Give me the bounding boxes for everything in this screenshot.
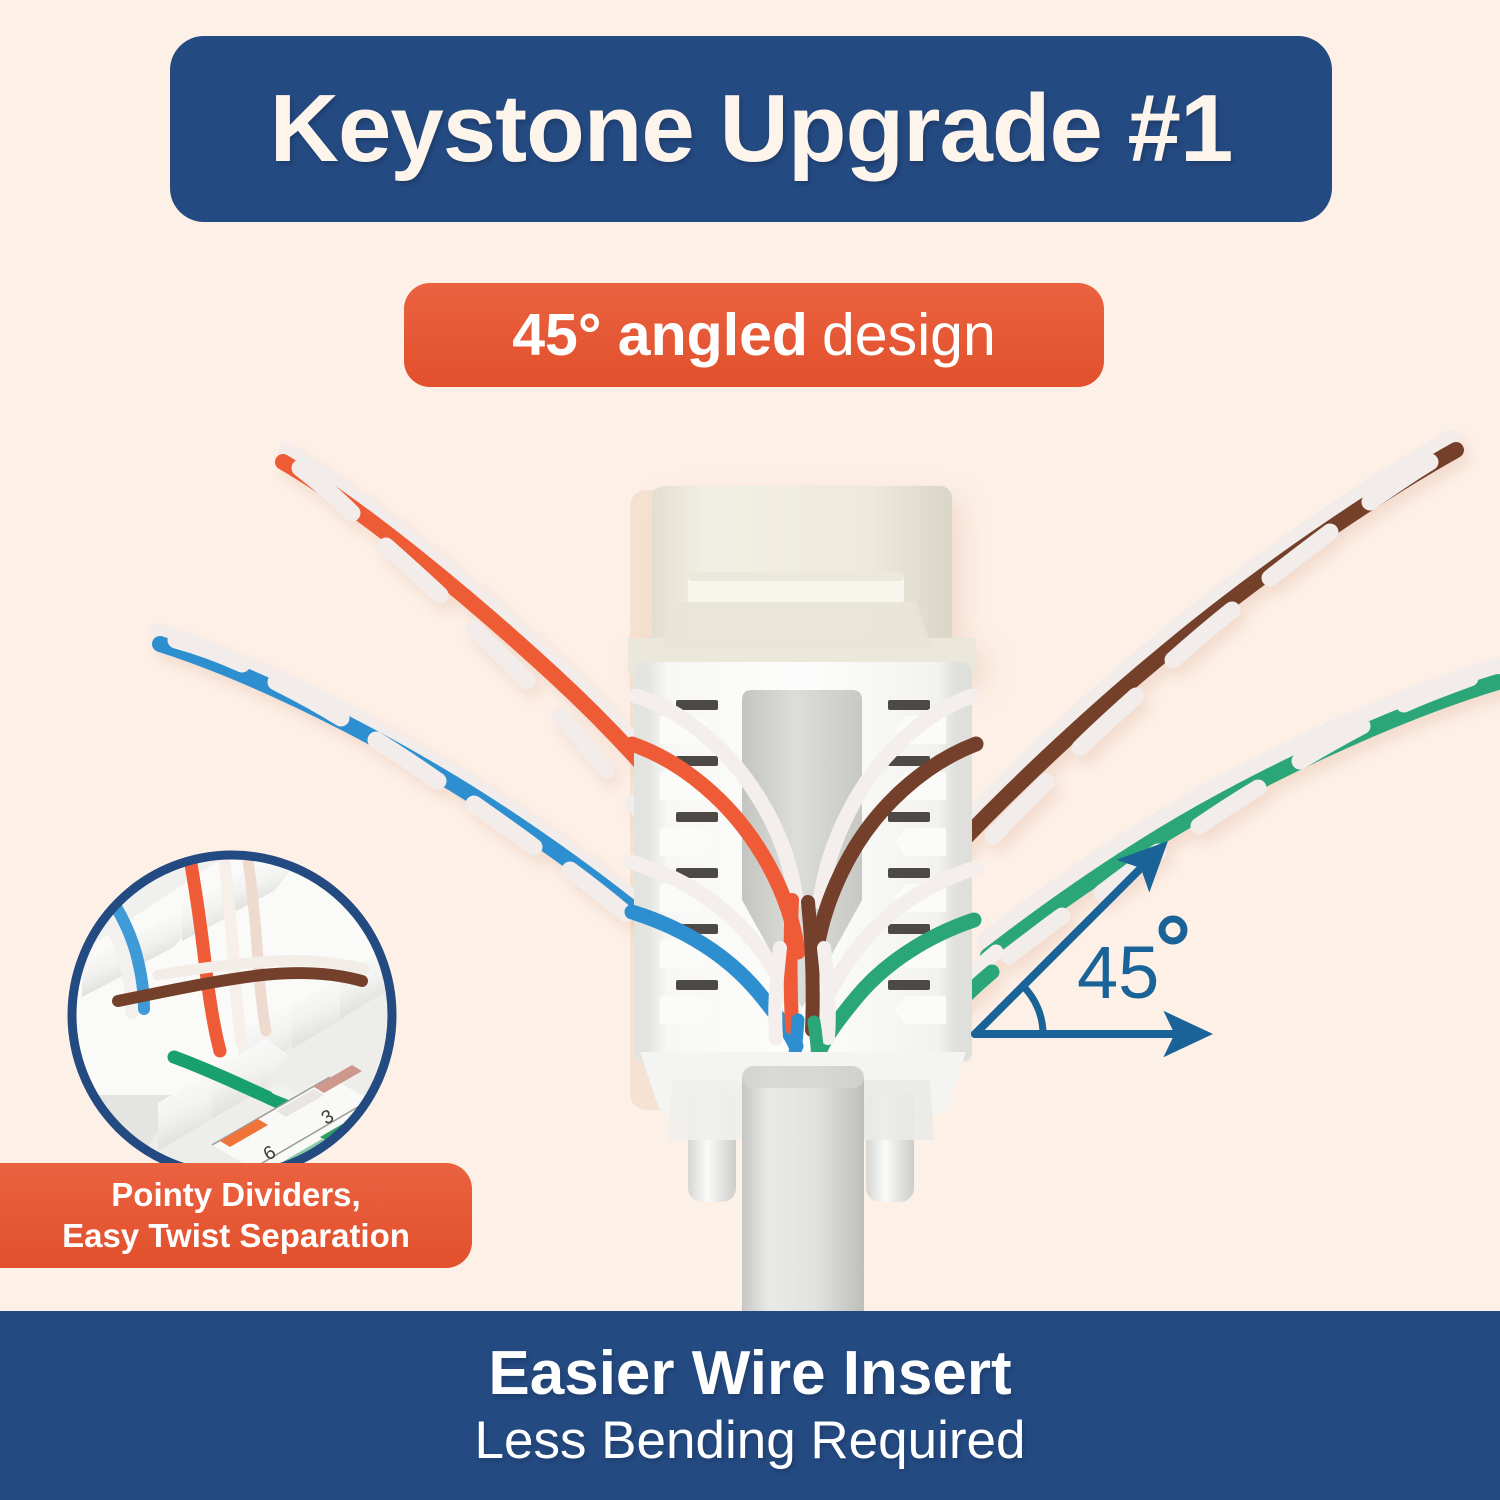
title-banner: Keystone Upgrade #1	[170, 36, 1332, 222]
angle-label-value: 45	[1077, 931, 1159, 1014]
cable-and-strain-relief	[640, 1052, 966, 1330]
bottom-banner-subline: Less Bending Required	[475, 1411, 1026, 1472]
degree-symbol-icon	[1162, 919, 1184, 941]
ethernet-cable-jacket	[742, 1066, 864, 1330]
angle-badge-light-text: design	[822, 306, 996, 365]
keystone-jack	[628, 486, 976, 678]
inset-caption-line-1: Pointy Dividers,	[111, 1175, 360, 1215]
angle-arc	[1023, 986, 1043, 1034]
inset-caption-line-2: Easy Twist Separation	[62, 1216, 410, 1256]
closeup-inset: 6 3	[62, 845, 402, 1185]
page-title: Keystone Upgrade #1	[270, 81, 1233, 177]
inset-caption-banner: Pointy Dividers, Easy Twist Separation	[0, 1163, 472, 1268]
angle-design-badge: 45° angled design	[404, 283, 1104, 387]
closeup-photo: 6 3	[62, 845, 402, 1185]
angle-45-diagram: 45	[965, 838, 1215, 1063]
bottom-banner-headline: Easier Wire Insert	[488, 1339, 1011, 1408]
angle-badge-strong-text: 45° angled	[512, 306, 808, 365]
infographic-page: Keystone Upgrade #1 45° angled design	[0, 0, 1500, 1500]
bottom-banner: Easier Wire Insert Less Bending Required	[0, 1311, 1500, 1500]
